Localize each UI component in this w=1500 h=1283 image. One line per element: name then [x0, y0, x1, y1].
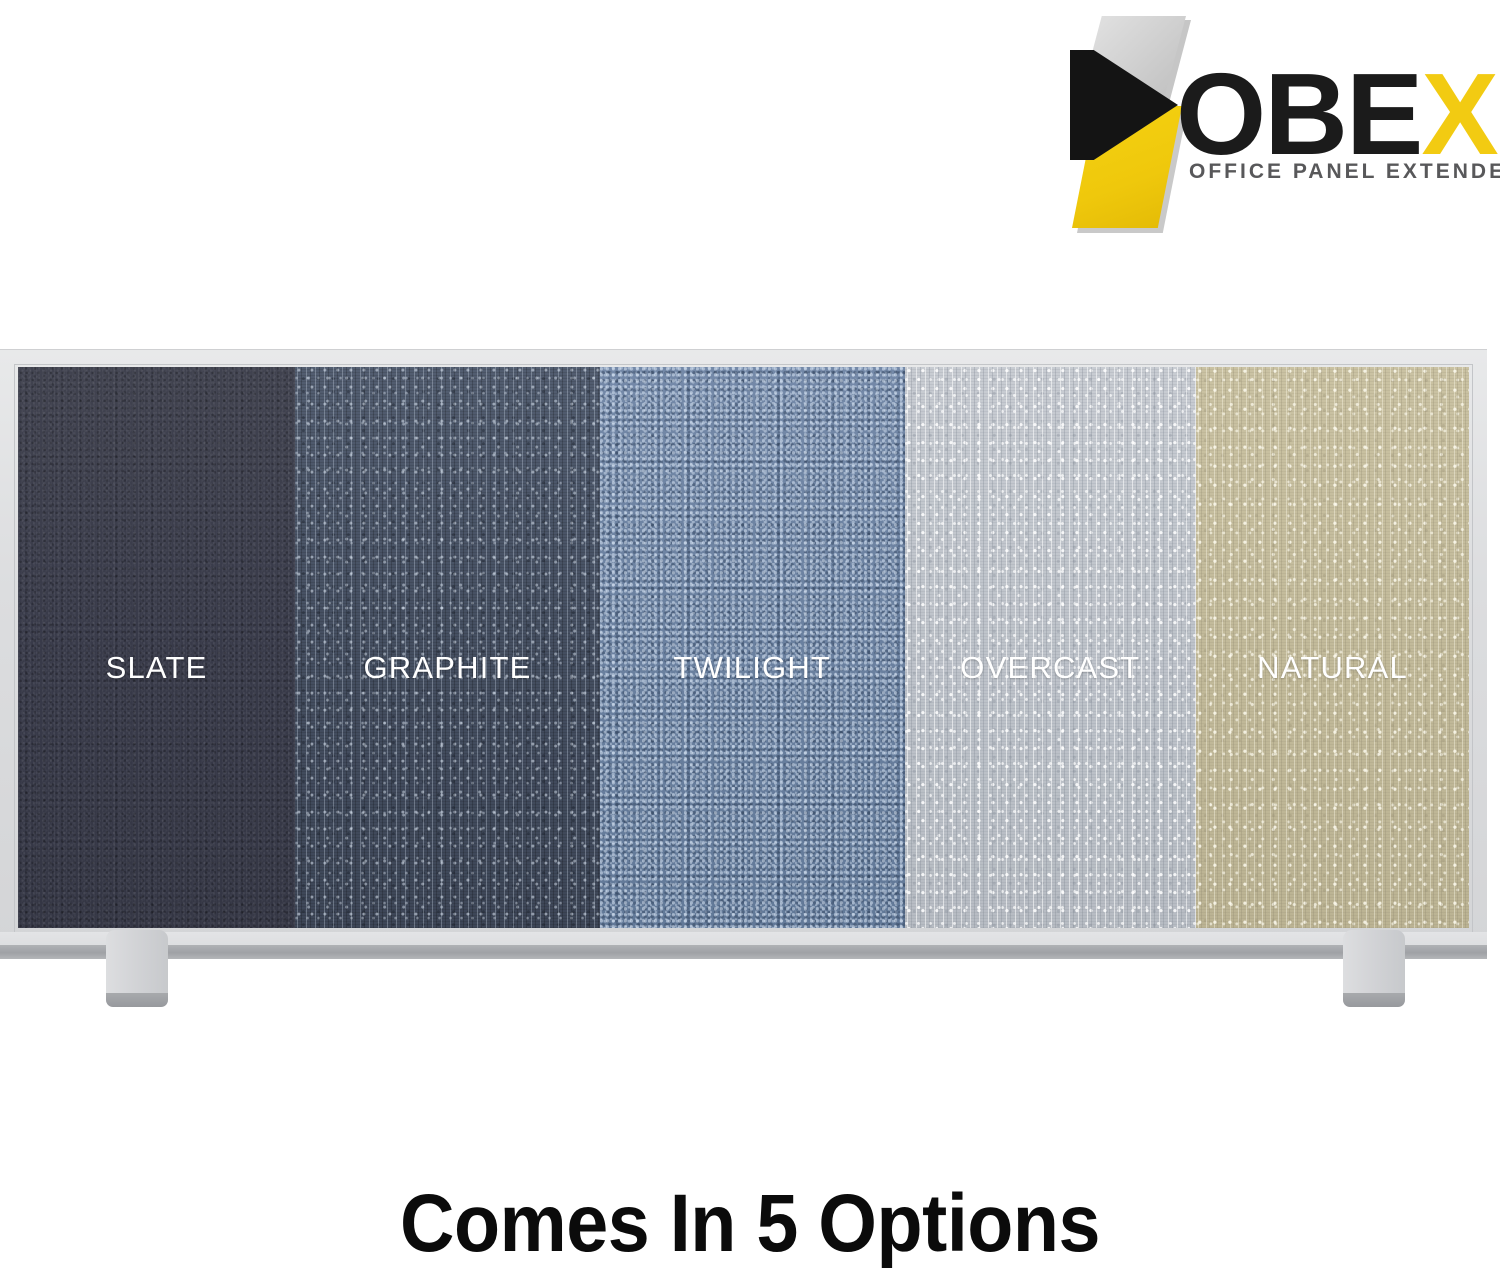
fabric-swatch-strip: SLATE GRAPHITE TWILIGHT OVERCAST NATURAL [18, 367, 1469, 928]
fabric-swatch-graphite[interactable]: GRAPHITE [295, 367, 600, 928]
fabric-texture-natural [1196, 367, 1469, 928]
fabric-swatch-overcast[interactable]: OVERCAST [905, 367, 1197, 928]
bracket-body-left [106, 930, 168, 998]
product-image-canvas: OBEX OFFICE PANEL EXTENDERS SLATE GRAPHI… [0, 0, 1500, 1283]
fabric-swatch-twilight[interactable]: TWILIGHT [600, 367, 905, 928]
caption-text: Comes In 5 Options [60, 1177, 1440, 1271]
fabric-texture-overcast [905, 367, 1197, 928]
bracket-body-right [1343, 930, 1405, 998]
bracket-cap-left [106, 993, 168, 1007]
obex-wordmark: OBEX [1176, 56, 1497, 172]
obex-logo: OBEX OFFICE PANEL EXTENDERS [1070, 8, 1470, 248]
fabric-swatch-natural[interactable]: NATURAL [1196, 367, 1469, 928]
fabric-label-natural: NATURAL [1257, 650, 1408, 686]
panel-bottom-rail-shadow [0, 945, 1487, 959]
mounting-bracket-left [106, 930, 168, 1007]
obex-tagline: OFFICE PANEL EXTENDERS [1189, 160, 1500, 184]
fabric-texture-slate [18, 367, 295, 928]
mounting-bracket-right [1343, 930, 1405, 1007]
fabric-label-twilight: TWILIGHT [673, 650, 831, 686]
fabric-texture-graphite [295, 367, 600, 928]
panel-extender-product: SLATE GRAPHITE TWILIGHT OVERCAST NATURAL [0, 349, 1487, 953]
bracket-cap-right [1343, 993, 1405, 1007]
fabric-swatch-slate[interactable]: SLATE [18, 367, 295, 928]
fabric-texture-twilight [600, 367, 905, 928]
fabric-label-slate: SLATE [106, 650, 208, 686]
obex-logo-mark-icon [1070, 14, 1190, 249]
fabric-label-graphite: GRAPHITE [363, 650, 531, 686]
fabric-label-overcast: OVERCAST [960, 650, 1140, 686]
